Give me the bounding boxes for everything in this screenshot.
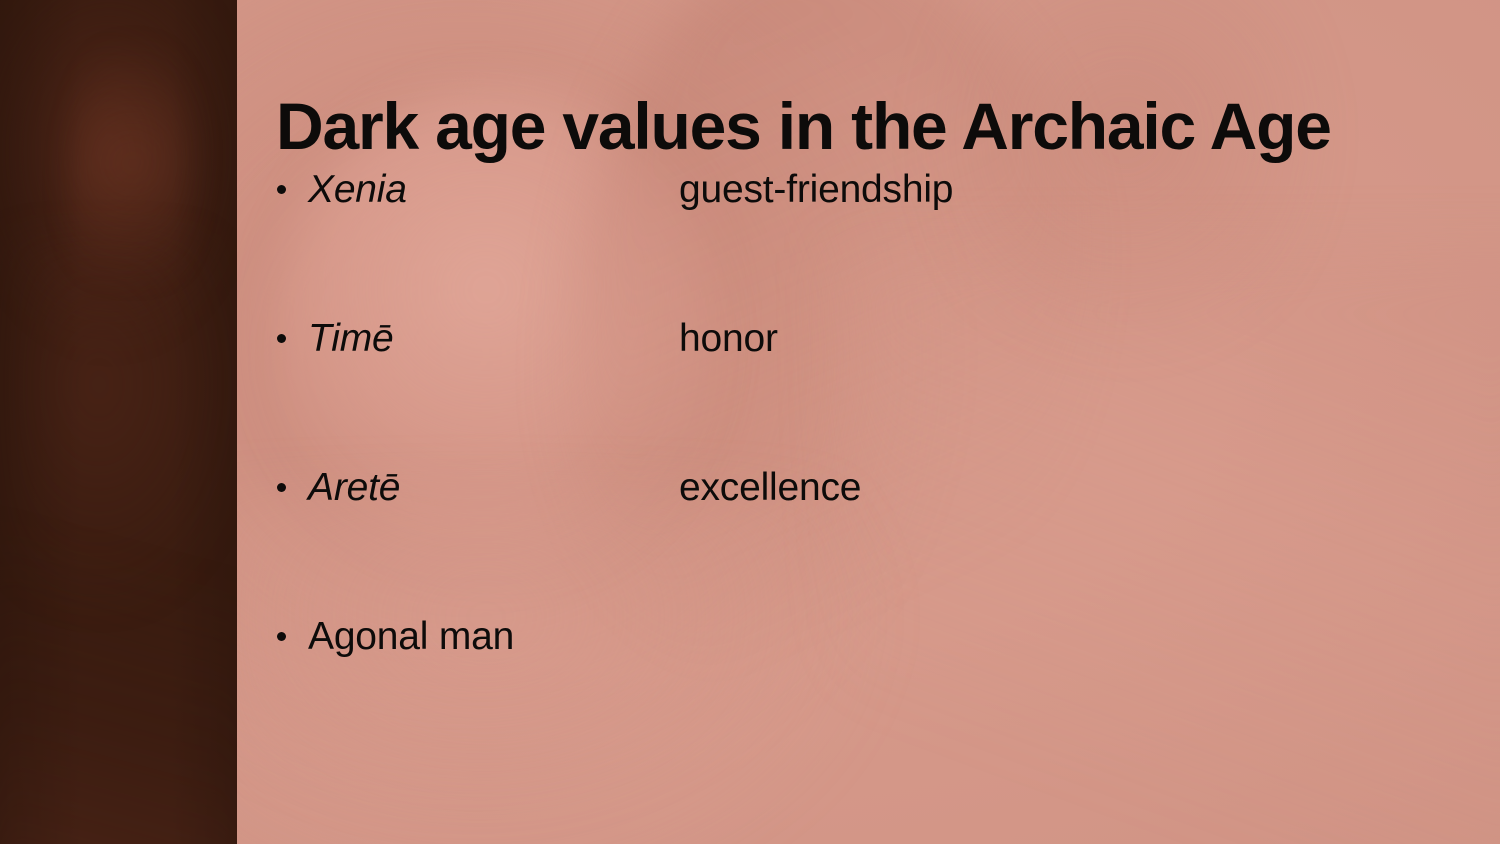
slide-content: Dark age values in the Archaic Age Xenia… <box>237 0 1500 844</box>
term-label: Aretē <box>308 468 400 507</box>
bullet-point-icon <box>277 185 286 194</box>
definition-label: honor <box>679 319 778 358</box>
term-label: Agonal man <box>308 617 514 656</box>
left-sidebar-band <box>0 0 237 844</box>
sidebar-vignette <box>0 0 237 844</box>
term-label: Xenia <box>308 170 407 209</box>
bullet-list: Xenia guest-friendship Timē honor Aretē … <box>277 170 1480 766</box>
bullet-point-icon <box>277 483 286 492</box>
list-item: Agonal man <box>277 617 1480 766</box>
bullet-point-icon <box>277 334 286 343</box>
list-item: Xenia guest-friendship <box>277 170 1480 319</box>
definition-label: guest-friendship <box>679 170 953 209</box>
list-item: Aretē excellence <box>277 468 1480 617</box>
list-item: Timē honor <box>277 319 1480 468</box>
definition-label: excellence <box>679 468 861 507</box>
presentation-slide: Dark age values in the Archaic Age Xenia… <box>0 0 1500 844</box>
term-label: Timē <box>308 319 394 358</box>
page-title: Dark age values in the Archaic Age <box>276 92 1331 161</box>
bullet-point-icon <box>277 632 286 641</box>
